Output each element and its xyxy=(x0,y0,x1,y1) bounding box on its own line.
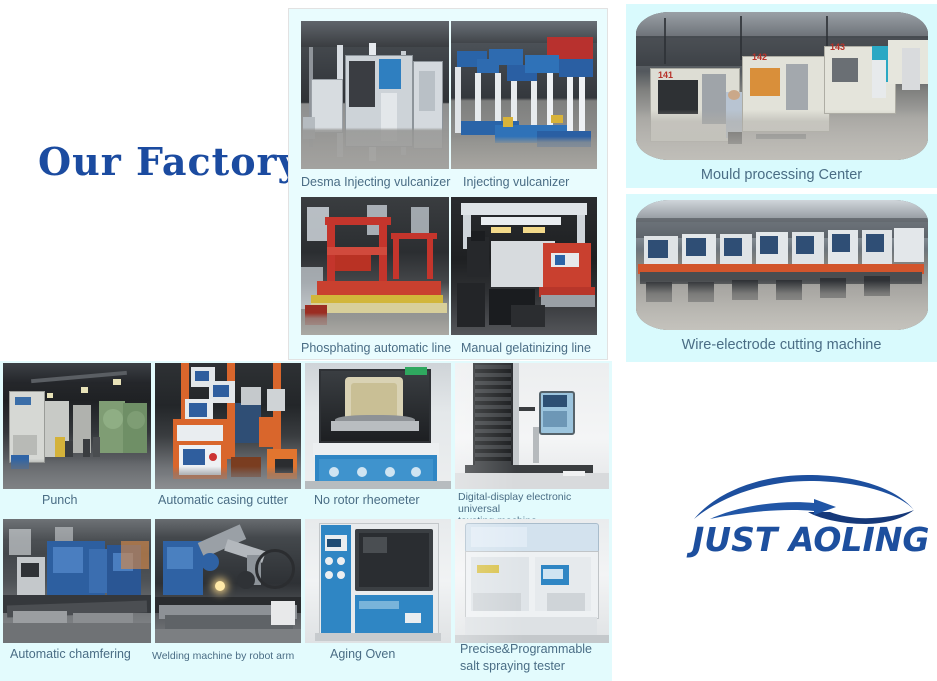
brand-name: JUST AOLING xyxy=(692,520,920,559)
desma-injecting-vulcanizer-photo xyxy=(301,21,449,169)
brand-logo: JUST AOLING xyxy=(690,472,920,572)
caption-no-rotor-rheometer: No rotor rheometer xyxy=(314,493,454,507)
phosphating-automatic-line-photo xyxy=(301,197,449,335)
caption-injecting-vulcanizer: Injecting vulcanizer xyxy=(463,175,603,189)
welding-machine-robot-arm-photo xyxy=(155,519,301,643)
caption-automatic-chamfering: Automatic chamfering xyxy=(10,647,156,661)
bottom-photo-grid-panel: Punch Automatic casing cutter No rotor r… xyxy=(0,361,612,681)
aging-oven-photo xyxy=(305,519,451,643)
factory-showcase-page: Our Factory xyxy=(0,0,937,681)
manual-gelatinizing-line-photo xyxy=(451,197,597,335)
caption-manual-gelatinizing-line: Manual gelatinizing line xyxy=(461,341,601,355)
right-photo-panel: 141 142 143 Mould processing Center xyxy=(626,4,937,360)
wire-electrode-cutting-machine-cell: Wire-electrode cutting machine xyxy=(626,194,937,362)
caption-phosphating-automatic-line: Phosphating automatic line xyxy=(301,341,456,355)
center-photo-panel: Desma Injecting vulcanizer Injecting vul… xyxy=(288,8,608,360)
no-rotor-rheometer-photo xyxy=(305,363,451,489)
caption-salt-spraying-tester: Precise&Programmable salt spraying teste… xyxy=(460,641,610,675)
injecting-vulcanizer-photo xyxy=(451,21,597,169)
mould-processing-center-cell: 141 142 143 Mould processing Center xyxy=(626,4,937,188)
punch-photo xyxy=(3,363,151,489)
caption-mould-processing-center: Mould processing Center xyxy=(626,168,937,182)
automatic-casing-cutter-photo xyxy=(155,363,301,489)
digital-display-universal-testing-machine-photo xyxy=(455,363,609,489)
caption-aging-oven: Aging Oven xyxy=(330,647,450,661)
caption-welding-machine-robot-arm: Welding machine by robot arm xyxy=(152,649,304,663)
page-title: Our Factory xyxy=(38,139,301,184)
caption-desma-injecting-vulcanizer: Desma Injecting vulcanizer xyxy=(301,175,451,189)
automatic-chamfering-photo xyxy=(3,519,151,643)
mould-processing-center-photo: 141 142 143 xyxy=(636,12,928,160)
caption-wire-electrode-cutting-machine: Wire-electrode cutting machine xyxy=(626,338,937,352)
caption-automatic-casing-cutter: Automatic casing cutter xyxy=(158,493,304,507)
salt-spraying-tester-photo xyxy=(455,519,609,643)
wire-electrode-cutting-machine-photo xyxy=(636,200,928,330)
caption-punch: Punch xyxy=(42,493,152,507)
